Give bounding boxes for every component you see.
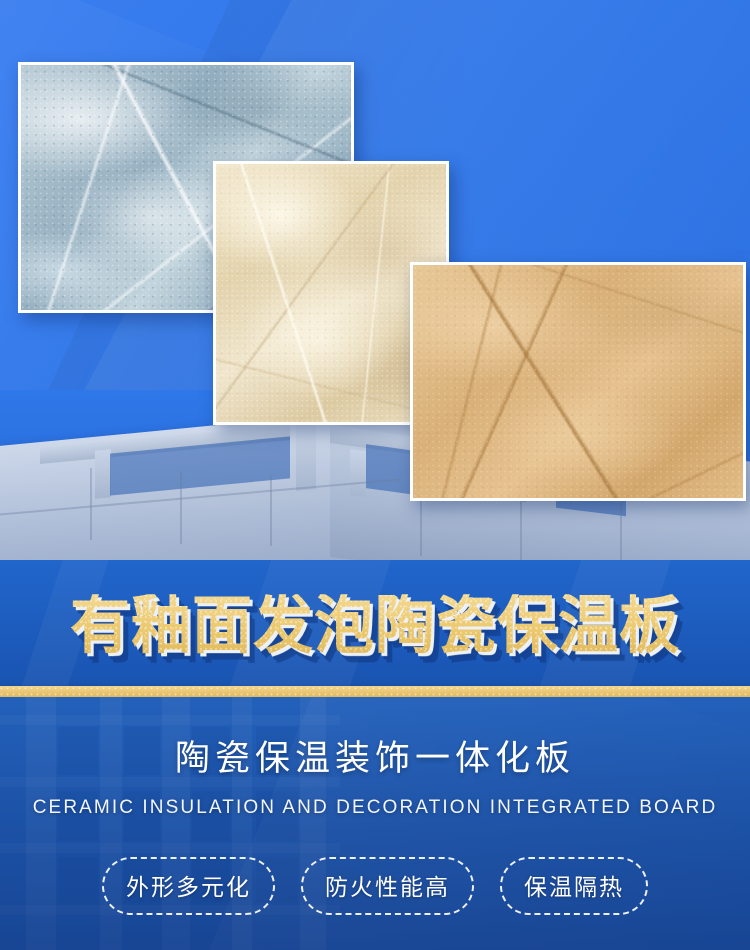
tile-sample-tan-marble [410, 262, 746, 501]
subtitle-chinese: 陶瓷保温装饰一体化板 [0, 738, 750, 780]
feature-pill: 防火性能高 [301, 857, 474, 915]
product-promo-banner: 有釉面发泡陶瓷保温板 陶瓷保温装饰一体化板 CERAMIC INSULATION… [0, 0, 750, 950]
feature-pill: 保温隔热 [500, 857, 648, 915]
subtitle-english: CERAMIC INSULATION AND DECORATION INTEGR… [0, 797, 750, 820]
headline-wrapper: 有釉面发泡陶瓷保温板 [0, 560, 750, 692]
feature-pill: 外形多元化 [102, 857, 275, 915]
gold-divider [0, 686, 750, 697]
tan-marble-texture [413, 265, 743, 498]
marble-speckle [413, 265, 743, 498]
feature-pill-list: 外形多元化 防火性能高 保温隔热 [0, 857, 750, 915]
page-title: 有釉面发泡陶瓷保温板 [70, 594, 680, 658]
